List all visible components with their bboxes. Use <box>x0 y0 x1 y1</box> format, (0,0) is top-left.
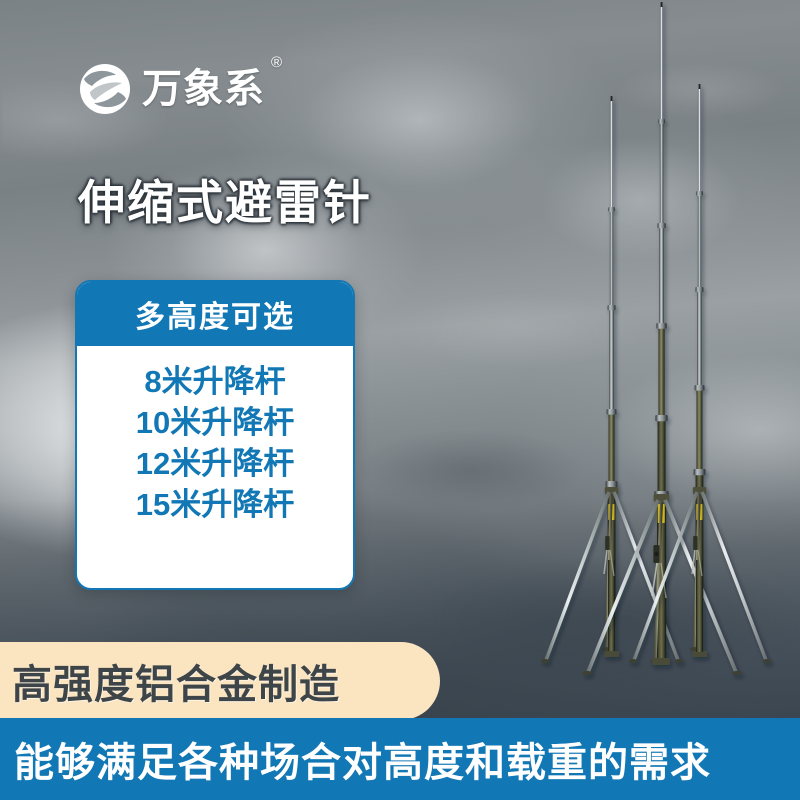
registered-trademark-icon: ® <box>271 55 283 70</box>
material-highlight-banner: 高强度铝合金制造 <box>0 642 440 720</box>
height-options-card-header: 多高度可选 <box>77 282 353 346</box>
height-options-card-title: 多高度可选 <box>135 292 295 336</box>
list-item: 15米升降杆 <box>136 485 294 524</box>
material-highlight-text: 高强度铝合金制造 <box>12 652 340 710</box>
bottom-tagline-text: 能够满足各种场合对高度和载重的需求 <box>14 730 711 788</box>
list-item: 12米升降杆 <box>136 444 294 483</box>
height-options-card: 多高度可选 8米升降杆 10米升降杆 12米升降杆 15米升降杆 <box>75 280 355 590</box>
mast-right <box>629 84 771 663</box>
list-item: 8米升降杆 <box>144 362 285 401</box>
height-options-list: 8米升降杆 10米升降杆 12米升降杆 15米升降杆 <box>77 346 353 524</box>
brand-name-text: 万象系 <box>142 67 265 111</box>
brand-name: 万象系 ® <box>142 69 265 109</box>
circular-swoosh-logo-icon <box>78 62 132 116</box>
brand-logo: 万象系 ® <box>78 62 265 116</box>
page-title: 伸缩式避雷针 <box>78 178 372 227</box>
list-item: 10米升降杆 <box>136 403 294 442</box>
product-advertisement-image: 万象系 ® 伸缩式避雷针 多高度可选 8米升降杆 10米升降杆 12米升降杆 1… <box>0 0 800 800</box>
mast-center <box>582 2 741 675</box>
bottom-tagline-banner: 能够满足各种场合对高度和载重的需求 <box>0 718 800 800</box>
